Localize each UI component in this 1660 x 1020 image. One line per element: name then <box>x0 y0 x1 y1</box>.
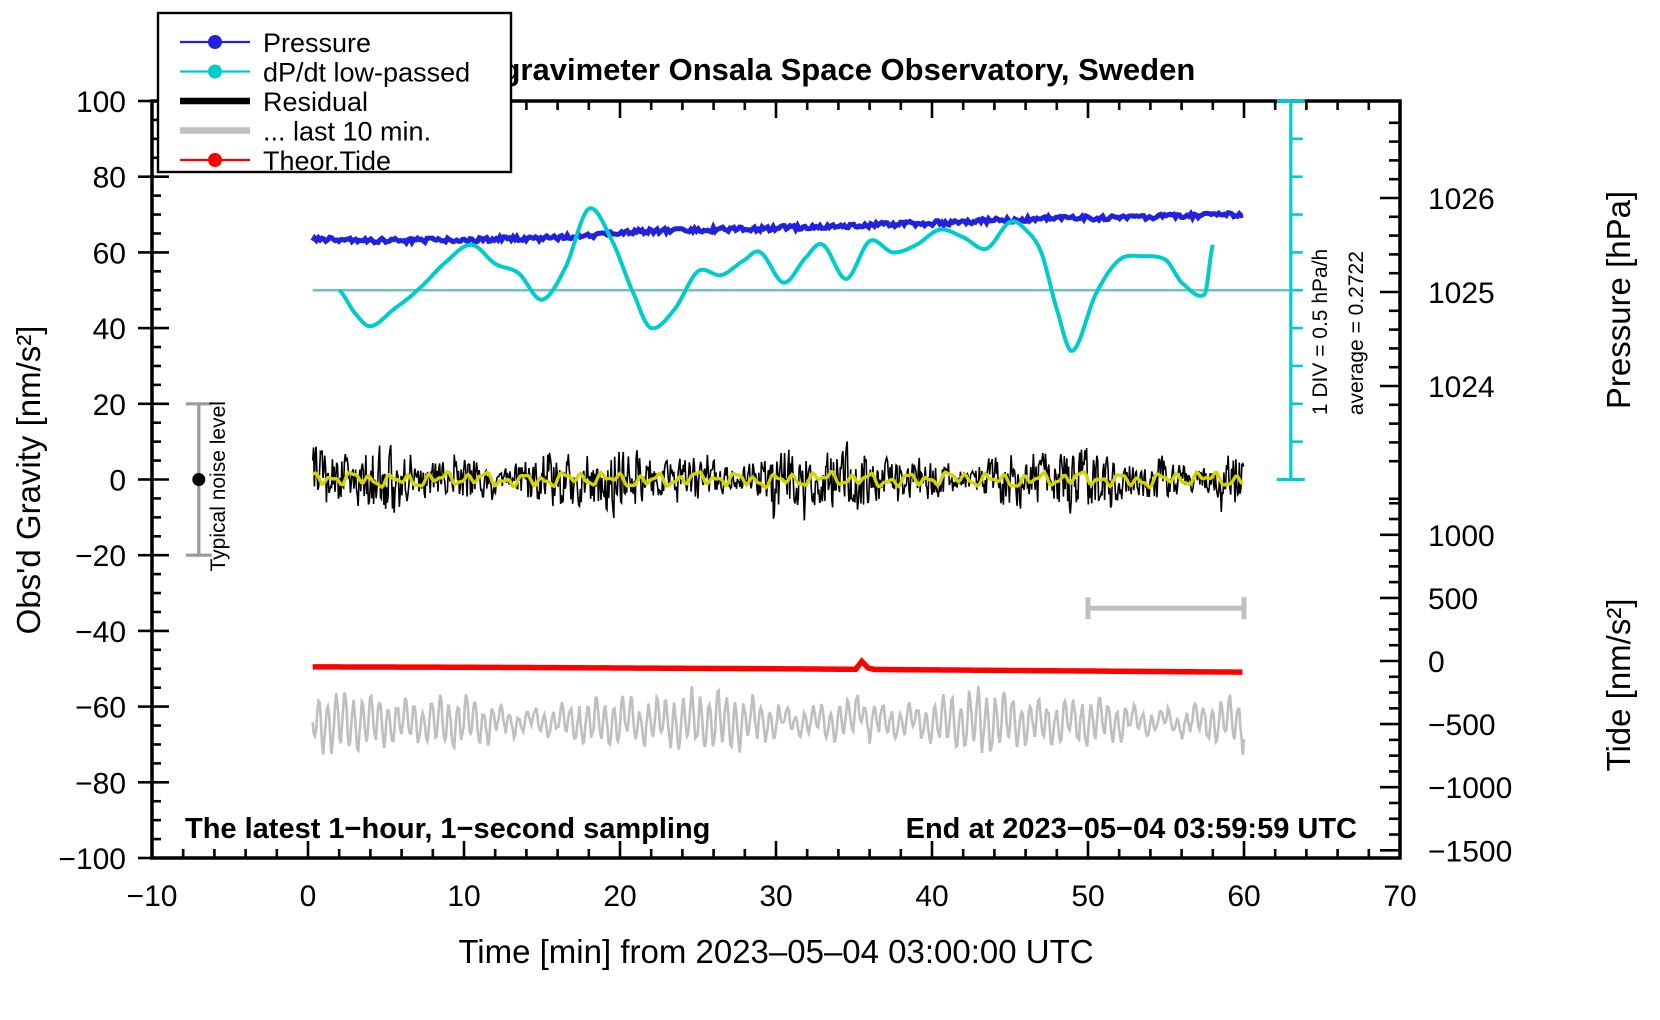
left-y-tick-label: −20 <box>75 540 126 573</box>
x-tick-label: 40 <box>915 880 948 913</box>
tide-tick-label: 1000 <box>1428 520 1495 553</box>
x-tick-label: −10 <box>127 880 178 913</box>
left-y-tick-label: 100 <box>76 86 126 119</box>
x-tick-label: 70 <box>1383 880 1416 913</box>
legend-item-label: Residual <box>263 87 368 117</box>
left-y-tick-label: 60 <box>93 237 126 270</box>
tide-tick-label: −1500 <box>1428 835 1512 868</box>
pressure-tick-label: 1026 <box>1428 183 1495 216</box>
typical-noise-level-label: Typical noise level <box>207 401 230 571</box>
left-y-tick-label: −80 <box>75 767 126 800</box>
dpdt-division-label: 1 DIV = 0.5 hPa/h <box>1309 249 1332 415</box>
x-tick-label: 60 <box>1227 880 1260 913</box>
left-y-tick-label: 20 <box>93 389 126 422</box>
pressure-tick-label: 1024 <box>1428 371 1495 404</box>
footer-left: The latest 1−hour, 1−second sampling <box>185 813 710 845</box>
legend-item-label: Theor.Tide <box>263 146 391 176</box>
x-tick-label: 10 <box>447 880 480 913</box>
left-y-tick-label: −100 <box>58 843 126 876</box>
gravimeter-chart: −10010203040506070 100806040200−20−40−60… <box>0 0 1660 1020</box>
left-y-tick-label: −40 <box>75 616 126 649</box>
x-axis-label: Time [min] from 2023–05–04 03:00:00 UTC <box>458 933 1093 970</box>
left-y-tick-label: 0 <box>109 465 126 498</box>
x-tick-label: 30 <box>759 880 792 913</box>
left-y-tick-label: −60 <box>75 692 126 725</box>
legend-item-label: ... last 10 min. <box>263 117 431 147</box>
tide-axis-label: Tide [nm/s²] <box>1600 599 1637 772</box>
legend-item-label: dP/dt low-passed <box>263 58 470 88</box>
pressure-axis-label: Pressure [hPa] <box>1600 191 1637 409</box>
tide-tick-label: 0 <box>1428 646 1445 679</box>
tide-tick-label: 500 <box>1428 583 1478 616</box>
legend-item-label: Pressure <box>263 28 371 58</box>
x-tick-label: 0 <box>300 880 317 913</box>
x-tick-label: 20 <box>603 880 636 913</box>
plot-root: −10010203040506070 100806040200−20−40−60… <box>0 0 1660 1020</box>
dpdt-average-label: average = 0.2722 <box>1345 251 1368 415</box>
left-y-tick-label: 80 <box>93 162 126 195</box>
x-tick-label: 50 <box>1071 880 1104 913</box>
footer-right: End at 2023−05−04 03:59:59 UTC <box>906 813 1357 845</box>
left-y-tick-label: 40 <box>93 313 126 346</box>
tide-tick-label: −1000 <box>1428 772 1512 805</box>
legend: PressuredP/dt low-passedResidual... last… <box>158 13 511 176</box>
pressure-tick-label: 1025 <box>1428 277 1495 310</box>
tide-tick-label: −500 <box>1428 709 1496 742</box>
left-axis-label: Obs'd Gravity [nm/s²] <box>10 326 47 635</box>
